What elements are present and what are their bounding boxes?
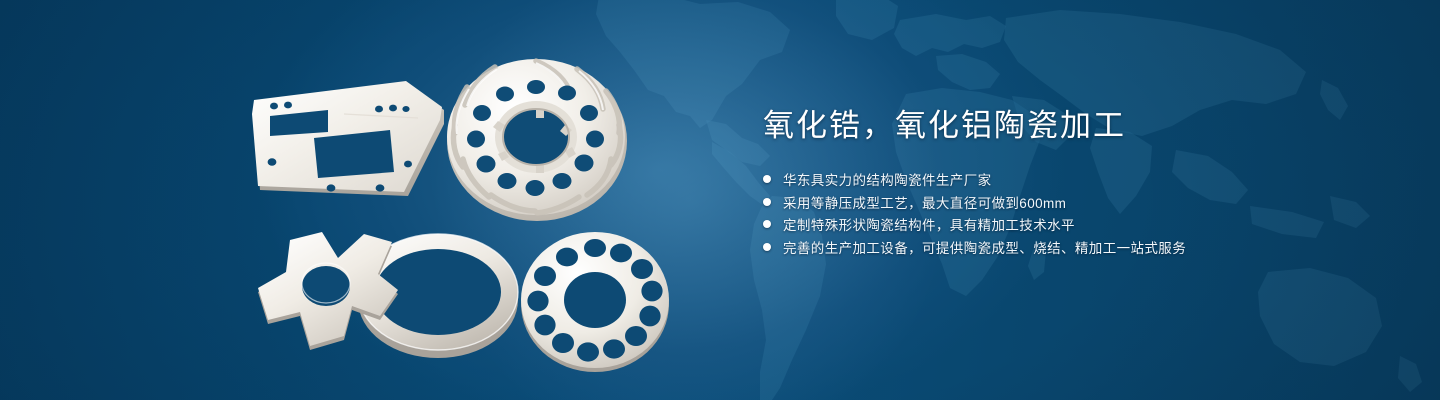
list-item: 采用等静压成型工艺，最大直径可做到600mm — [763, 191, 1383, 214]
bullet-dot-icon — [763, 198, 771, 206]
product-photo-cluster — [0, 0, 720, 400]
feature-list: 华东具实力的结构陶瓷件生产厂家 采用等静压成型工艺，最大直径可做到600mm 定… — [763, 168, 1383, 258]
feature-text: 完善的生产加工设备，可提供陶瓷成型、烧结、精加工一站式服务 — [783, 237, 1186, 257]
feature-text: 采用等静压成型工艺，最大直径可做到600mm — [783, 192, 1066, 212]
banner-headline: 氧化锆，氧化铝陶瓷加工 — [763, 104, 1383, 148]
ceramic-hole-ring-disc — [517, 228, 673, 374]
ceramic-impeller-wheel — [443, 47, 630, 227]
list-item: 完善的生产加工设备，可提供陶瓷成型、烧结、精加工一站式服务 — [763, 236, 1383, 259]
ceramic-machined-plate — [248, 78, 448, 203]
bullet-dot-icon — [763, 220, 771, 228]
bullet-dot-icon — [763, 243, 771, 251]
feature-text: 华东具实力的结构陶瓷件生产厂家 — [783, 169, 992, 189]
banner-copy: 氧化锆，氧化铝陶瓷加工 华东具实力的结构陶瓷件生产厂家 采用等静压成型工艺，最大… — [763, 104, 1383, 258]
list-item: 定制特殊形状陶瓷结构件，具有精加工技术水平 — [763, 213, 1383, 236]
list-item: 华东具实力的结构陶瓷件生产厂家 — [763, 168, 1383, 191]
bullet-dot-icon — [763, 175, 771, 183]
product-banner: 氧化锆，氧化铝陶瓷加工 华东具实力的结构陶瓷件生产厂家 采用等静压成型工艺，最大… — [0, 0, 1440, 400]
ceramic-cross-plate — [252, 228, 416, 356]
feature-text: 定制特殊形状陶瓷结构件，具有精加工技术水平 — [783, 214, 1075, 234]
